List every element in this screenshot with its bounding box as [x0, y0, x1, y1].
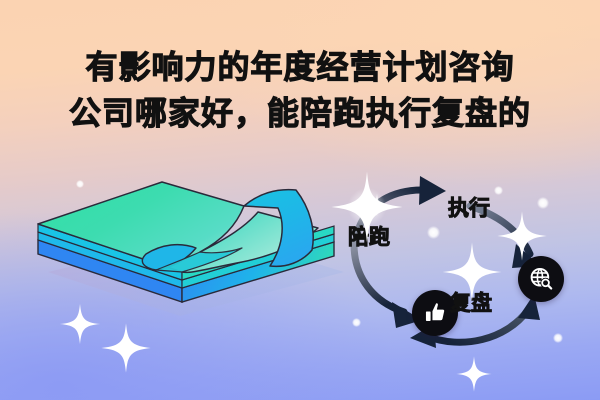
flow-label-peipao: 陪跑	[348, 221, 390, 251]
globe-search-icon	[528, 266, 555, 293]
flow-node-globe-search	[518, 256, 564, 302]
thumbs-up-icon	[422, 300, 448, 326]
flow-label-fupan: 复盘	[450, 287, 492, 317]
arrow-to-fupan	[354, 244, 404, 312]
process-flow-diagram: 陪跑 执行 复盘	[330, 168, 600, 358]
isometric-stacked-sheets-illustration	[14, 168, 354, 348]
flow-label-zhixing: 执行	[448, 192, 490, 222]
title-line-1: 有影响力的年度经营计划咨询	[0, 44, 600, 90]
page-title: 有影响力的年度经营计划咨询 公司哪家好，能陪跑执行复盘的	[0, 44, 600, 136]
arrow-head-zhixing	[419, 176, 446, 205]
banner-canvas: 有影响力的年度经营计划咨询 公司哪家好，能陪跑执行复盘的	[0, 0, 600, 400]
title-line-2: 公司哪家好，能陪跑执行复盘的	[0, 90, 600, 136]
